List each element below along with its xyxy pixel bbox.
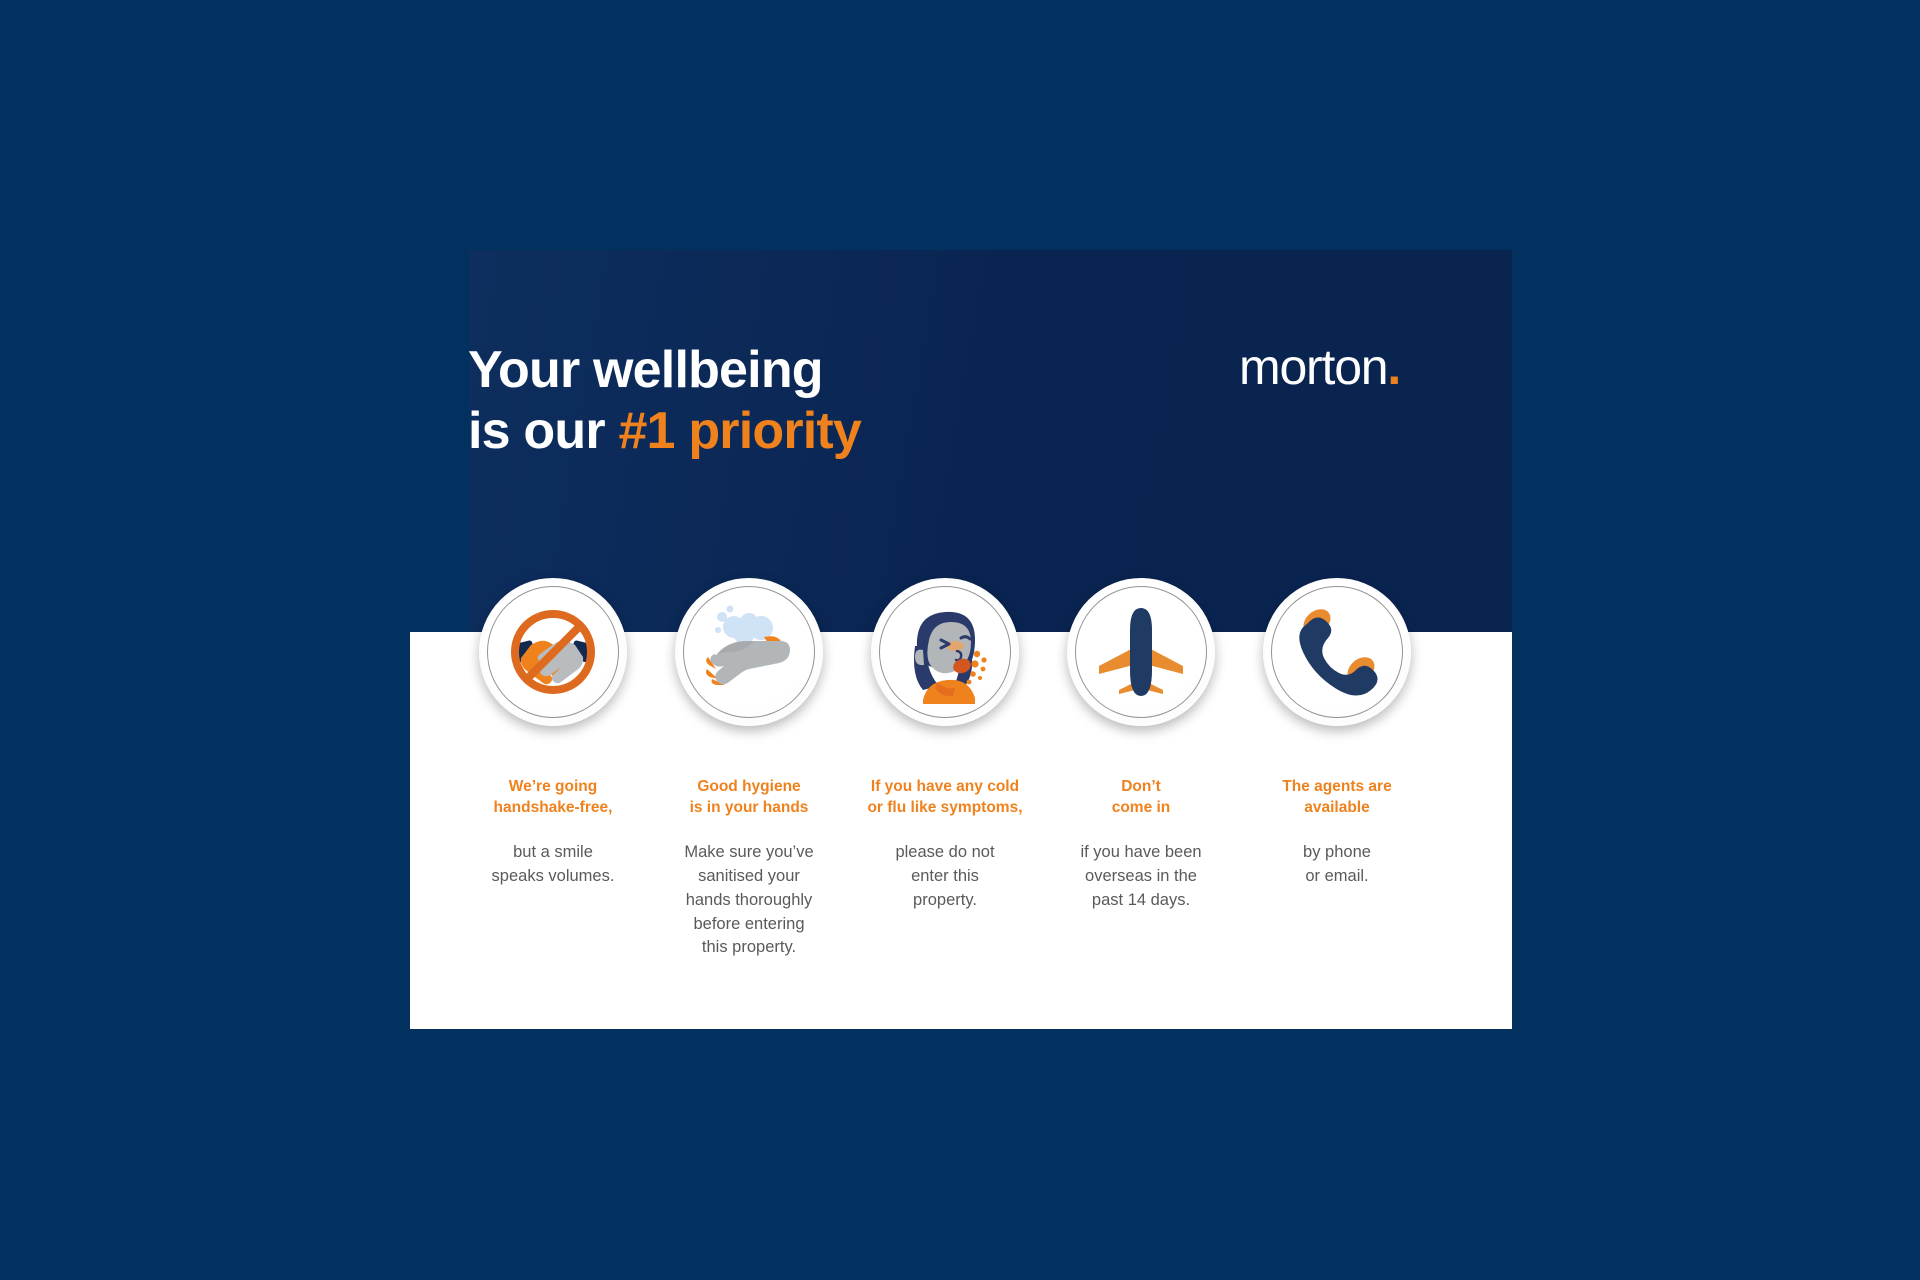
headline-line-1: Your wellbeing — [468, 340, 861, 401]
airplane-icon — [1089, 600, 1193, 704]
column-title: Good hygiene is in your hands — [690, 776, 809, 819]
icon-badge — [675, 578, 823, 726]
column-body: please do not enter this property. — [895, 841, 994, 913]
hand-washing-icon — [694, 597, 804, 707]
telephone-icon — [1285, 600, 1389, 704]
icon-badge — [1263, 578, 1411, 726]
brand-logo: morton. — [1239, 342, 1400, 392]
guidance-column: If you have any cold or flu like symptom… — [847, 578, 1043, 913]
brand-logo-name: morton — [1239, 339, 1387, 395]
sneezing-person-icon — [889, 596, 1001, 708]
column-title: The agents are available — [1282, 776, 1391, 819]
guidance-column: Don’t come in if you have been overseas … — [1043, 578, 1239, 913]
page-title: Your wellbeing is our #1 priority — [468, 340, 861, 463]
guidance-column: Good hygiene is in your hands Make sure … — [651, 578, 847, 960]
column-body: but a smile speaks volumes. — [492, 841, 615, 889]
icon-badge — [479, 578, 627, 726]
icon-badge — [1067, 578, 1215, 726]
poster-canvas: Your wellbeing is our #1 priority morton… — [0, 0, 1920, 1280]
column-title: If you have any cold or flu like symptom… — [867, 776, 1022, 819]
column-body: if you have been overseas in the past 14… — [1080, 841, 1201, 913]
column-body: by phone or email. — [1303, 841, 1371, 889]
headline-line-2: is our #1 priority — [468, 401, 861, 462]
headline-accent: #1 priority — [618, 402, 861, 460]
column-body: Make sure you’ve sanitised your hands th… — [684, 841, 813, 961]
no-handshake-icon — [498, 597, 608, 707]
icon-badge — [871, 578, 1019, 726]
brand-logo-dot: . — [1387, 339, 1400, 395]
guidance-column: We’re going handshake-free, but a smile … — [455, 578, 651, 889]
column-title: Don’t come in — [1112, 776, 1171, 819]
column-title: We’re going handshake-free, — [494, 776, 613, 819]
guidance-columns: We’re going handshake-free, but a smile … — [455, 578, 1475, 978]
headline-line-2-plain: is our — [468, 402, 618, 460]
guidance-column: The agents are available by phone or ema… — [1239, 578, 1435, 889]
